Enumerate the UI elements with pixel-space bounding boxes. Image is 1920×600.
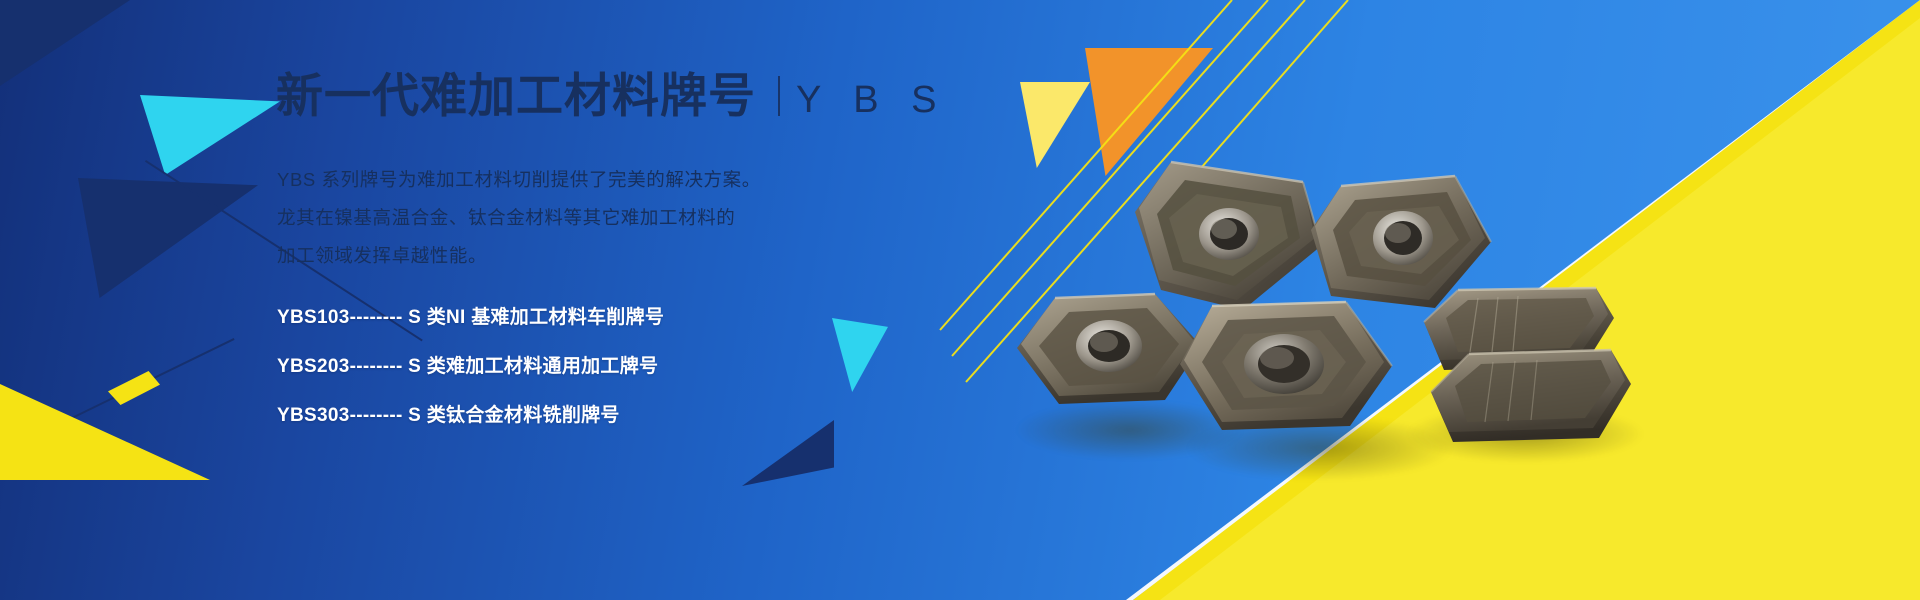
yellow-accent-small	[108, 371, 160, 405]
description-line: 加工领域发挥卓越性能。	[277, 244, 761, 267]
model-item-ybs303: YBS303-------- S 类钛合金材料铣削牌号	[277, 405, 664, 428]
insert-square-milling	[1170, 292, 1405, 452]
cyan-triangle-upper	[140, 95, 280, 175]
insert-bar-lower	[1413, 338, 1643, 464]
promo-banner: 新一代难加工材料牌号 Y B S YBS 系列牌号为难加工材料切削提供了完美的解…	[0, 0, 1920, 600]
title-sub-text: Y B S	[796, 81, 947, 119]
product-insert-group	[995, 150, 1615, 490]
title-main-text: 新一代难加工材料牌号	[276, 72, 756, 119]
yellow-triangle-lower-left	[0, 330, 210, 480]
model-item-ybs203: YBS203-------- S 类难加工材料通用加工牌号	[277, 356, 664, 379]
banner-description: YBS 系列牌号为难加工材料切削提供了完美的解决方案。 龙其在镍基高温合金、钛合…	[277, 168, 761, 282]
description-line: YBS 系列牌号为难加工材料切削提供了完美的解决方案。	[277, 168, 761, 191]
banner-content: 新一代难加工材料牌号 Y B S YBS 系列牌号为难加工材料切削提供了完美的解…	[276, 0, 1036, 600]
navy-triangle-left	[78, 178, 258, 298]
banner-title: 新一代难加工材料牌号 Y B S	[276, 72, 947, 119]
navy-triangle-corner	[0, 0, 130, 86]
model-item-ybs103: YBS103-------- S 类NI 基难加工材料车削牌号	[277, 307, 664, 330]
model-list: YBS103-------- S 类NI 基难加工材料车削牌号 YBS203--…	[277, 307, 664, 453]
description-line: 龙其在镍基高温合金、钛合金材料等其它难加工材料的	[277, 206, 761, 229]
title-separator-bar	[778, 76, 780, 116]
